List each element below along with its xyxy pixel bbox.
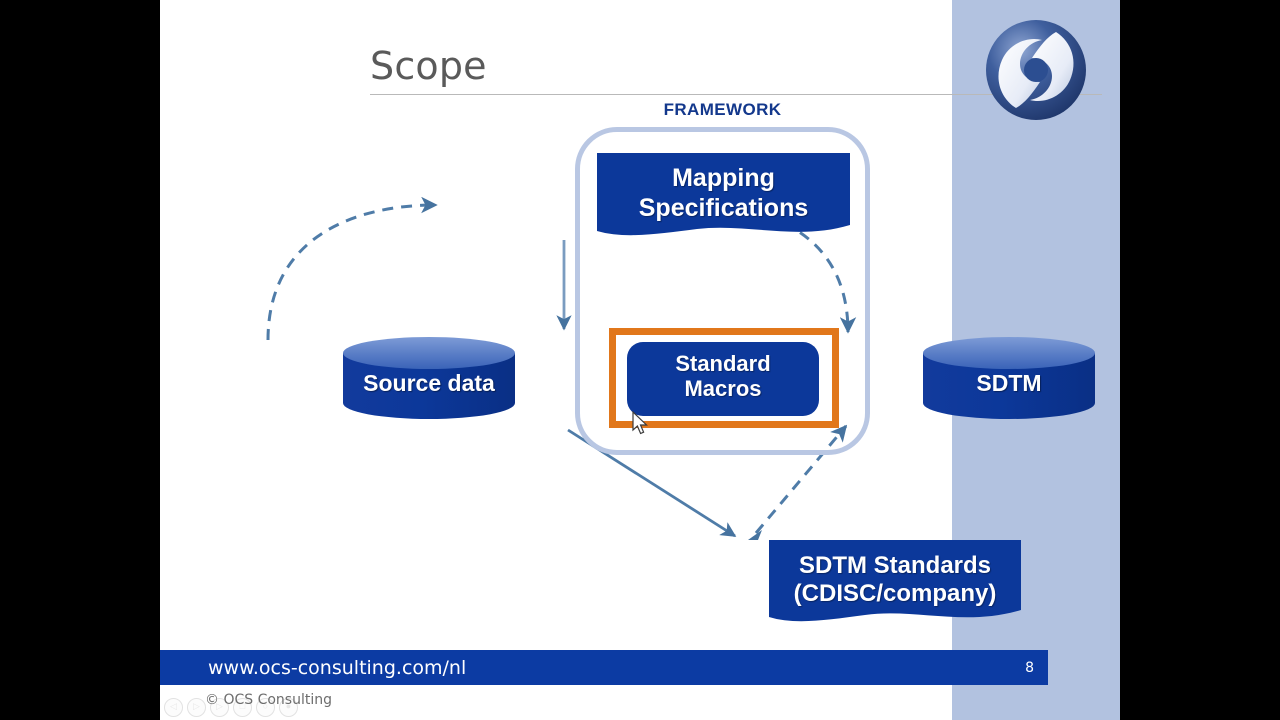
node-label-group: SDTM Standards (CDISC/company) [769,540,1021,609]
play-button[interactable]: ▷ [187,698,206,717]
footer-bar: www.ocs-consulting.com/nl 8 [160,650,1048,685]
mapping-specs-line-2: Specifications [597,194,850,224]
node-source-data[interactable]: Source data [343,337,515,419]
node-standard-macros[interactable]: Standard Macros [627,342,819,416]
screen: Scope FRAMEWORK Mapping Specifications S… [0,0,1280,720]
sdtm-standards-line-1: SDTM Standards [769,552,1021,580]
node-mapping-specifications[interactable]: Mapping Specifications [597,153,850,238]
node-label-group: Mapping Specifications [597,153,850,223]
page-number: 8 [1025,660,1034,676]
standard-macros-line-1: Standard [627,351,819,376]
mapping-specs-line-1: Mapping [597,164,850,194]
standard-macros-line-2: Macros [627,376,819,401]
node-label: Source data [343,370,515,397]
sdtm-standards-line-2: (CDISC/company) [769,580,1021,608]
arrowhead-into-sdtmstandards [748,530,762,540]
node-sdtm-standards[interactable]: SDTM Standards (CDISC/company) [769,540,1021,625]
copyright-text: © OCS Consulting [205,692,332,708]
framework-label: FRAMEWORK [575,100,870,120]
slide-canvas: Scope FRAMEWORK Mapping Specifications S… [160,0,952,720]
footer-url[interactable]: www.ocs-consulting.com/nl [208,657,466,679]
mouse-cursor-icon [632,411,650,437]
node-label: SDTM [923,370,1095,397]
letterbox-bar-right [1120,0,1280,720]
arrow-source-to-specs-dashed [268,205,436,340]
ocs-logo-icon [984,18,1088,122]
node-sdtm[interactable]: SDTM [923,337,1095,419]
letterbox-bar-left [0,0,160,720]
page-title: Scope [370,44,487,88]
previous-button[interactable]: ◁ [164,698,183,717]
